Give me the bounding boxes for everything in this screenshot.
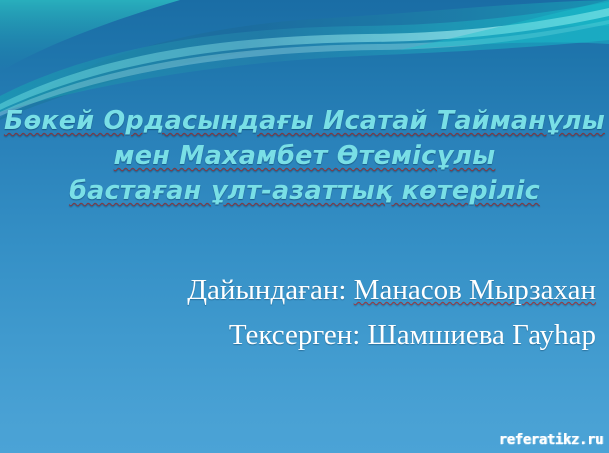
title-line-2: мен Махамбет Өтемісұлы [0, 139, 609, 174]
presentation-slide: Бөкей Ордасындағы Исатай Тайманұлы мен М… [0, 0, 609, 453]
credit-label-checked-by: Тексерген: [229, 319, 360, 351]
swoosh-decoration-icon [0, 0, 609, 120]
title-line-3: бастаған ұлт-азаттық көтеріліс [0, 174, 609, 209]
title-line-1-text: Бөкей Ордасындағы Исатай Тайманұлы [4, 106, 605, 136]
title-line-2-text: мен Махамбет Өтемісұлы [114, 141, 496, 171]
credit-label-prepared-by: Дайындаған: [187, 274, 346, 306]
slide-title: Бөкей Ордасындағы Исатай Тайманұлы мен М… [0, 104, 609, 209]
credit-value-checked-by: Шамшиева Гауһар [368, 319, 596, 351]
title-line-1: Бөкей Ордасындағы Исатай Тайманұлы [0, 104, 609, 139]
site-watermark: referatikz.ru [499, 432, 603, 448]
slide-credits: Дайындаған: Манасов Мырзахан Тексерген: … [0, 268, 609, 358]
credit-line-checked-by: Тексерген: Шамшиева Гауһар [0, 313, 596, 358]
credit-value-prepared-by: Манасов Мырзахан [354, 274, 596, 306]
credit-line-prepared-by: Дайындаған: Манасов Мырзахан [0, 268, 596, 313]
title-line-3-text: бастаған ұлт-азаттық көтеріліс [69, 176, 540, 206]
